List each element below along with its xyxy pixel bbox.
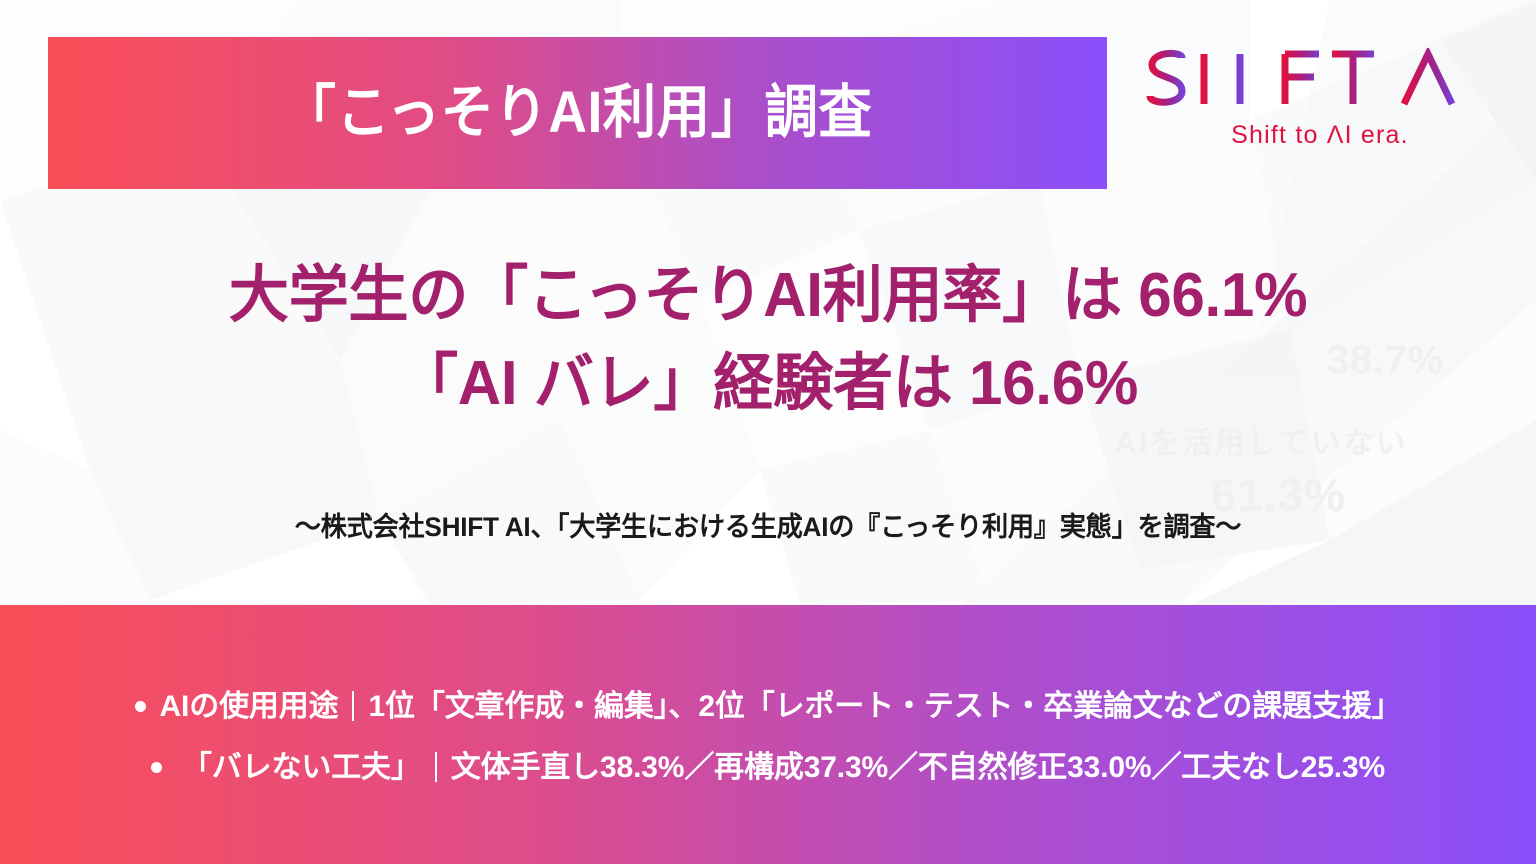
key-findings-bar: AIの使用用途 1位「文章作成・編集」、2位「レポート・テスト・卒業論文などの課… (0, 605, 1536, 864)
page-title: 「こっそりAI利用」調査 (283, 84, 873, 142)
key-findings-background (0, 605, 1536, 864)
separator-icon (435, 752, 437, 782)
subtitle: 〜株式会社SHIFT AI、「大学生における生成AIの『こっそり利用』実態」を調… (23, 505, 1513, 544)
headline-line-2: 「AI バレ」経験者は 16.6% (23, 340, 1513, 428)
key-finding-1-lead: AIの使用用途 (160, 690, 339, 723)
title-banner: 「こっそりAI利用」調査 (48, 37, 1107, 189)
bullet-dot-icon (135, 701, 146, 712)
separator-icon (352, 691, 354, 721)
poster-canvas: 38.7% AIを活用していない 61.3% 「こっそりAI利用」調査 (0, 0, 1536, 864)
bullet-dot-icon (151, 762, 162, 773)
key-finding-row-2: 「バレない工夫」 文体手直し38.3%／再構成37.3%／不自然修正33.0%／… (0, 751, 1536, 784)
svg-text:Shift to ΛI era.: Shift to ΛI era. (1231, 121, 1409, 149)
key-finding-row-1: AIの使用用途 1位「文章作成・編集」、2位「レポート・テスト・卒業論文などの課… (0, 690, 1536, 723)
headline-line-1: 大学生の「こっそりAI利用率」は 66.1% (23, 252, 1513, 340)
headline-block: 大学生の「こっそりAI利用率」は 66.1% 「AI バレ」経験者は 16.6% (0, 252, 1536, 428)
logo-tagline: Shift to ΛI era. (1142, 118, 1498, 152)
shift-ai-logo: Shift to ΛI era. (1142, 48, 1498, 152)
key-finding-2-detail: 文体手直し38.3%／再構成37.3%／不自然修正33.0%／工夫なし25.3% (451, 751, 1385, 784)
key-finding-2-lead: 「バレない工夫」 (182, 751, 421, 784)
key-finding-1-detail: 1位「文章作成・編集」、2位「レポート・テスト・卒業論文などの課題支援」 (368, 690, 1401, 723)
logo-wordmark-icon (1142, 48, 1498, 110)
